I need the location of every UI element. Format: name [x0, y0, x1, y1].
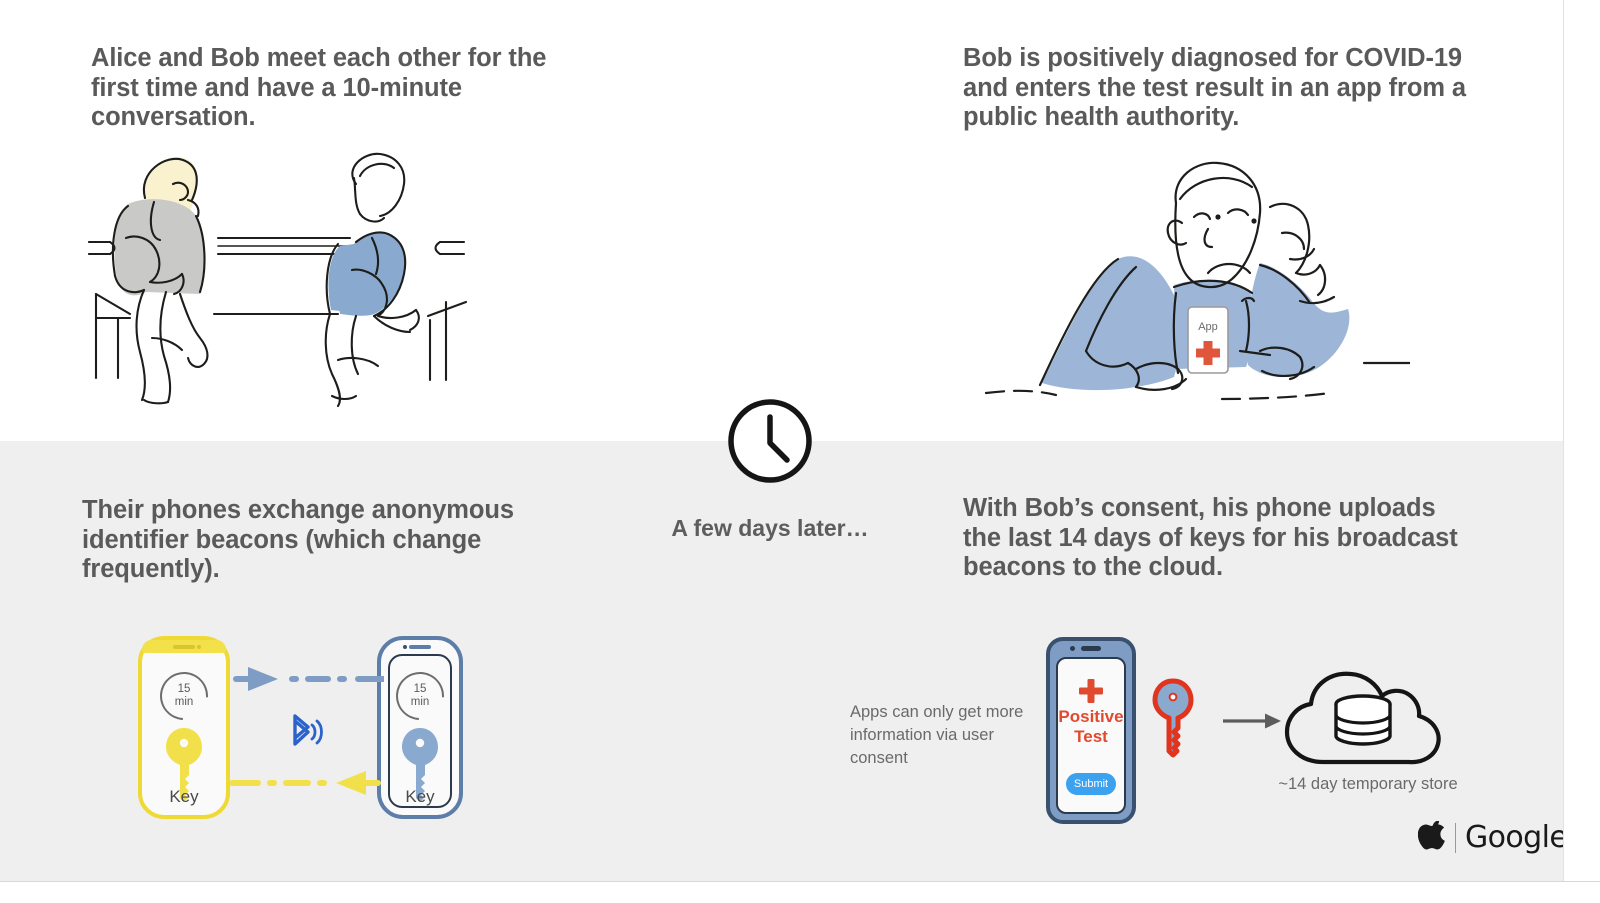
upload-arrow-icon — [1223, 712, 1281, 730]
phone-camera-icon — [197, 645, 201, 649]
alice-timer-unit: min — [175, 696, 194, 709]
bob-timer-value: 15 — [414, 683, 427, 696]
positive-test-label: Positive Test — [1058, 707, 1123, 747]
beacon-arrow-left — [232, 664, 384, 694]
positive-test-phone: Positive Test Submit — [1046, 637, 1136, 824]
positive-test-screen: Positive Test Submit — [1056, 657, 1126, 814]
bob-timer-unit: min — [411, 696, 430, 709]
alice-phone: 15 min Key — [138, 636, 230, 819]
google-wordmark: Google — [1465, 820, 1563, 855]
step-title-top-right: Bob is positively diagnosed for COVID-19… — [963, 44, 1473, 133]
positive-test-line1: Positive — [1058, 707, 1123, 727]
bob-phone: 15 min Key — [377, 636, 463, 819]
consent-note: Apps can only get more information via u… — [850, 701, 1030, 770]
brand-lockup: Google — [1418, 820, 1563, 855]
bluetooth-icon — [283, 712, 325, 754]
clock-icon — [725, 396, 815, 486]
upload-key-icon — [1152, 678, 1194, 758]
slide-page: Alice and Bob meet each other for the fi… — [0, 0, 1600, 903]
time-divider-label: A few days later… — [660, 515, 880, 542]
medical-cross-icon — [1079, 679, 1103, 703]
diagnosis-scene-illustration: App — [960, 155, 1410, 405]
step-title-bottom-left: Their phones exchange anonymous identifi… — [82, 496, 532, 585]
bob-timer: 15 min — [396, 672, 444, 720]
beacon-arrow-right — [230, 768, 382, 798]
bench-scene-illustration — [88, 142, 488, 407]
apple-logo — [1418, 821, 1446, 854]
time-divider: A few days later… — [660, 396, 880, 542]
slide-canvas: Alice and Bob meet each other for the fi… — [0, 0, 1563, 881]
alice-timer-value: 15 — [178, 683, 191, 696]
phone-speaker-icon — [1081, 646, 1101, 651]
cloud-database-icon — [1283, 670, 1443, 770]
alice-key-label: Key — [142, 787, 226, 807]
phone-camera-icon — [403, 645, 407, 649]
database-cylinder-icon — [1336, 696, 1390, 744]
alice-timer: 15 min — [160, 672, 208, 720]
cloud-caption: ~14 day temporary store — [1228, 775, 1508, 794]
phone-speaker-icon — [409, 645, 431, 649]
submit-button[interactable]: Submit — [1066, 773, 1116, 795]
phone-speaker-icon — [173, 645, 195, 649]
step-title-top-left: Alice and Bob meet each other for the fi… — [91, 44, 561, 133]
bob-key-label: Key — [381, 787, 459, 807]
logo-divider — [1455, 823, 1456, 853]
right-page-margin — [1563, 0, 1600, 903]
bottom-page-margin — [0, 881, 1600, 903]
phone-camera-icon — [1070, 646, 1075, 651]
positive-test-line2: Test — [1058, 727, 1123, 747]
app-label: App — [1198, 321, 1218, 333]
step-title-bottom-right: With Bob’s consent, his phone uploads th… — [963, 494, 1468, 583]
